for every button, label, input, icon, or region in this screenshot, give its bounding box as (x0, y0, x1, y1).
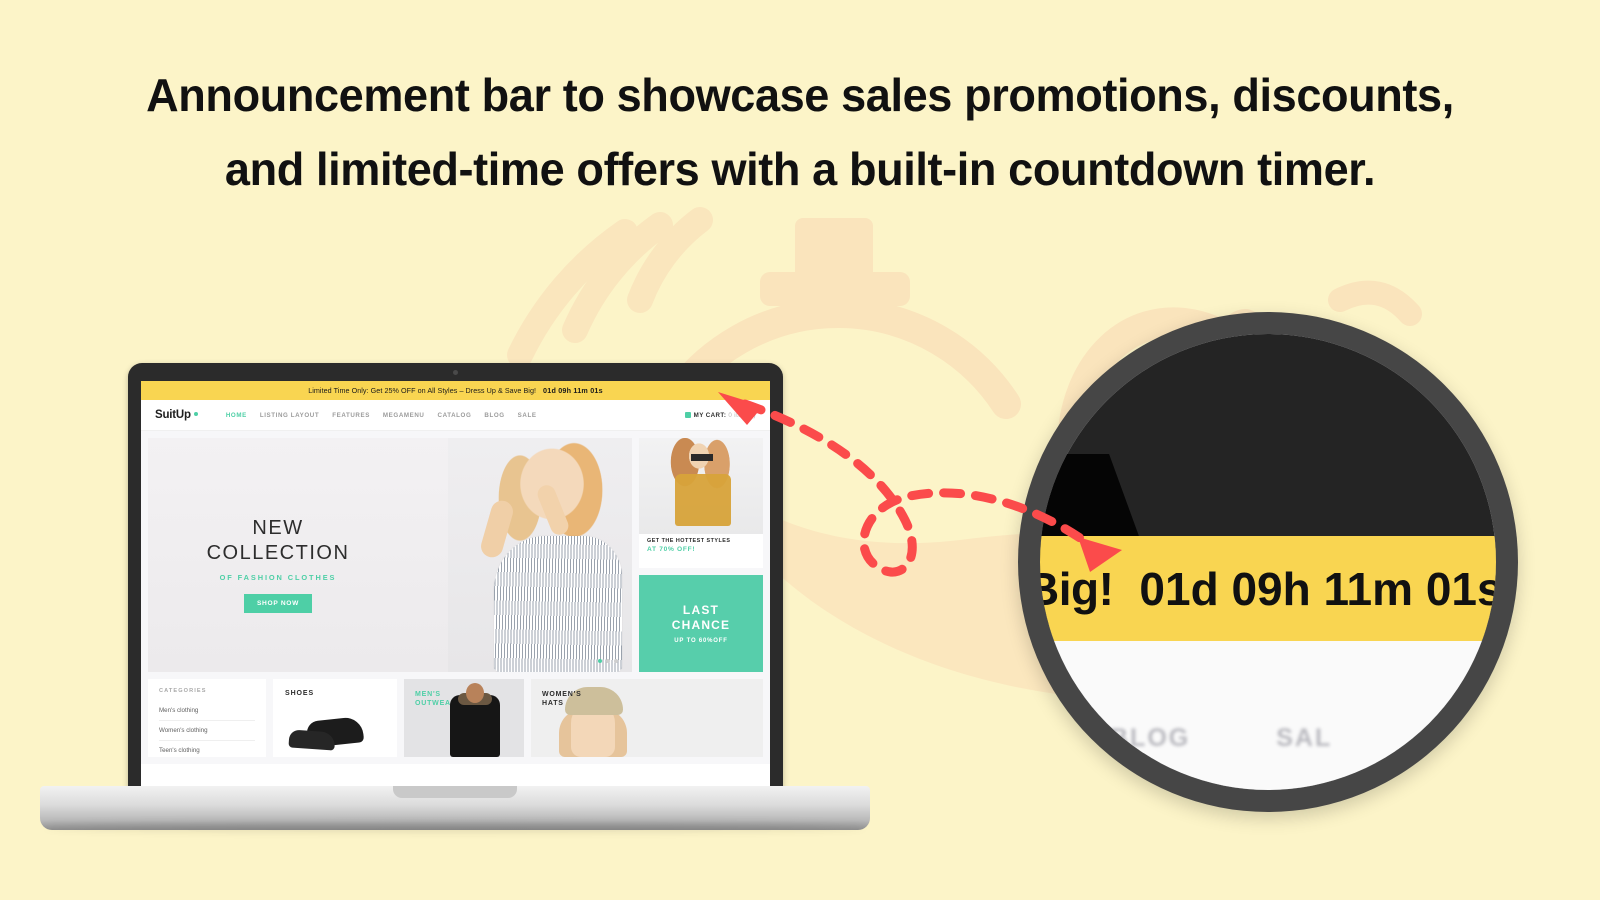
cart-count: 0 item(s) (728, 412, 756, 419)
cart-label: MY CART: (694, 412, 727, 419)
hero-banner[interactable]: NEW COLLECTION OF FASHION CLOTHES SHOP N… (148, 438, 632, 672)
nav-item-features[interactable]: FEATURES (332, 412, 370, 419)
tile-womens-hats-label: WOMEN'S HATS (542, 690, 582, 709)
sidebar-promos: GET THE HOTTEST STYLES AT 70% OFF! LAST … (639, 438, 763, 672)
carousel-dots[interactable] (598, 659, 618, 663)
last-chance-card[interactable]: LAST CHANCE UP TO 60%OFF (639, 575, 763, 672)
hero-title-line-2: COLLECTION (168, 541, 388, 566)
model-head-graphic (466, 683, 484, 703)
carousel-dot-3[interactable] (614, 659, 618, 663)
page-title: Announcement bar to showcase sales promo… (16, 58, 1584, 206)
laptop-screen: Limited Time Only: Get 25% OFF on All St… (141, 381, 770, 787)
hero-text-block: NEW COLLECTION OF FASHION CLOTHES SHOP N… (168, 516, 388, 613)
magnified-message-tail: Big! (1040, 562, 1113, 616)
last-chance-line-2: CHANCE (672, 618, 731, 633)
content-row-top: NEW COLLECTION OF FASHION CLOTHES SHOP N… (148, 438, 763, 672)
magnified-countdown-timer: 01d 09h 11m 01s (1139, 562, 1496, 616)
tile-shoes[interactable]: SHOES (273, 679, 397, 757)
magnifier-lens: Big! 01d 09h 11m 01s BLOG SAL (1018, 312, 1518, 812)
magnified-nav-item-blog: BLOG (1110, 724, 1190, 753)
promo-card-line-2: AT 70% OFF! (647, 546, 755, 553)
magnifier-viewport: Big! 01d 09h 11m 01s BLOG SAL (1040, 334, 1496, 790)
site-logo-text: SuitUp (155, 409, 191, 421)
tile-womens-hats[interactable]: WOMEN'S HATS (531, 679, 763, 757)
promo-dress (675, 474, 731, 526)
magnified-nav-item-sale: SAL (1276, 724, 1332, 753)
categories-title: CATEGORIES (159, 688, 255, 694)
nav-item-blog[interactable]: BLOG (484, 412, 504, 419)
tile-mens-outwear[interactable]: MEN'S OUTWEAR (404, 679, 524, 757)
nav-item-sale[interactable]: SALE (518, 412, 537, 419)
laptop-lid: Limited Time Only: Get 25% OFF on All St… (128, 363, 783, 797)
promo-card-line-1: GET THE HOTTEST STYLES (647, 538, 755, 544)
category-item-womens[interactable]: Women's clothing (159, 721, 255, 741)
nav-item-home[interactable]: HOME (226, 412, 247, 419)
hero-title-line-1: NEW (168, 516, 388, 541)
cart-button[interactable]: MY CART: 0 item(s) (685, 412, 756, 419)
hero-model-photo (448, 438, 632, 672)
category-item-teens[interactable]: Teen's clothing (159, 741, 255, 757)
shop-now-button[interactable]: SHOP NOW (244, 594, 312, 613)
promo-card-image (639, 438, 763, 534)
categories-list: Men's clothing Women's clothing Teen's c… (159, 701, 255, 757)
sunglasses-icon (691, 454, 713, 461)
magnified-nav: BLOG SAL (1040, 724, 1496, 753)
webcam-icon (453, 370, 458, 375)
tile-womens-hats-line-1: WOMEN'S (542, 691, 582, 698)
category-item-mens[interactable]: Men's clothing (159, 701, 255, 721)
hero-subtitle: OF FASHION CLOTHES (168, 573, 388, 582)
categories-card: CATEGORIES Men's clothing Women's clothi… (148, 679, 266, 757)
content-row-bottom: CATEGORIES Men's clothing Women's clothi… (148, 679, 763, 757)
last-chance-line-1: LAST (683, 603, 719, 618)
page-title-line-2: and limited-time offers with a built-in … (16, 132, 1584, 206)
site-content: NEW COLLECTION OF FASHION CLOTHES SHOP N… (141, 431, 770, 764)
nav-item-catalog[interactable]: CATALOG (438, 412, 472, 419)
countdown-timer: 01d 09h 11m 01s (543, 386, 603, 395)
hero-dress (494, 536, 622, 672)
site-logo[interactable]: SuitUp (155, 409, 198, 421)
nav-item-listing-layout[interactable]: LISTING LAYOUT (260, 412, 319, 419)
laptop-shadow (46, 822, 864, 832)
tile-womens-hats-line-2: HATS (542, 700, 564, 707)
hero-arm-right (535, 483, 571, 538)
carousel-dot-1[interactable] (598, 659, 602, 663)
site-header: SuitUp HOME LISTING LAYOUT FEATURES MEGA… (141, 400, 770, 431)
announcement-bar[interactable]: Limited Time Only: Get 25% OFF on All St… (141, 381, 770, 400)
logo-dot-icon (194, 412, 198, 416)
announcement-message: Limited Time Only: Get 25% OFF on All St… (308, 386, 536, 395)
magnified-announcement-text: Big! 01d 09h 11m 01s (1040, 536, 1496, 641)
carousel-dot-2[interactable] (606, 659, 610, 663)
tile-shoes-label: SHOES (285, 690, 314, 697)
page-title-line-1: Announcement bar to showcase sales promo… (16, 58, 1584, 132)
magnified-site-header (1040, 641, 1496, 790)
last-chance-sub: UP TO 60%OFF (674, 638, 727, 644)
main-nav: HOME LISTING LAYOUT FEATURES MEGAMENU CA… (226, 412, 537, 419)
laptop-mockup: Limited Time Only: Get 25% OFF on All St… (40, 363, 870, 843)
tile-mens-outwear-line-1: MEN'S (415, 691, 441, 698)
cart-icon (685, 412, 691, 418)
nav-item-megamenu[interactable]: MEGAMENU (383, 412, 425, 419)
promo-card[interactable]: GET THE HOTTEST STYLES AT 70% OFF! (639, 438, 763, 568)
promo-card-caption: GET THE HOTTEST STYLES AT 70% OFF! (647, 535, 755, 556)
